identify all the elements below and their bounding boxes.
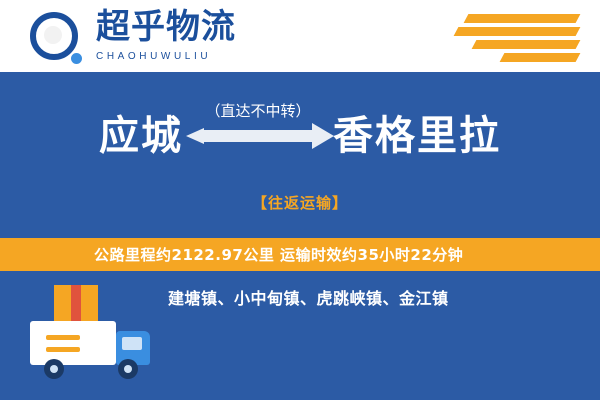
destination-panel: 建塘镇、小中甸镇、虎跳峡镇、金江镇 <box>0 271 600 400</box>
truck-wheel-front <box>118 359 138 379</box>
brand-text: 超乎物流 CHAOHUWULIU <box>96 8 296 62</box>
destination-city: 香格里拉 <box>333 112 501 160</box>
stripe-3 <box>472 40 581 49</box>
stripe-2 <box>454 27 581 36</box>
stripe-1 <box>464 14 581 23</box>
direct-shipping-badge: （直达不中转） <box>205 100 310 121</box>
truck-window-shape <box>122 337 142 350</box>
circle-logo-icon <box>30 12 84 66</box>
distance-duration-text: 公路里程约2122.97公里 运输时效约35小时22分钟 <box>94 244 463 265</box>
distance-info-bar: 公路里程约2122.97公里 运输时效约35小时22分钟 <box>0 238 600 271</box>
banner-header: 超乎物流 CHAOHUWULIU <box>0 0 600 72</box>
truck-wheel-rear <box>44 359 64 379</box>
origin-city: 应城 <box>99 112 183 160</box>
truck-parcel-tape-shape <box>71 285 81 321</box>
truck-stripe-1 <box>46 335 80 340</box>
stripe-4 <box>500 53 581 62</box>
logistics-banner: 超乎物流 CHAOHUWULIU 应城 （直达不中转） 香格里拉 【往返运输】 … <box>0 0 600 400</box>
route-row: 应城 （直达不中转） 香格里拉 <box>0 112 600 160</box>
truck-body-shape <box>30 321 116 365</box>
right-arrow-icon <box>202 130 314 142</box>
route-arrow-group: （直达不中转） <box>183 112 333 160</box>
destination-towns-text: 建塘镇、小中甸镇、虎跳峡镇、金江镇 <box>168 285 588 309</box>
round-trip-badge: 【往返运输】 <box>0 192 600 213</box>
decorative-stripes <box>438 14 578 60</box>
delivery-truck-icon <box>24 285 164 385</box>
truck-stripe-2 <box>46 347 80 352</box>
brand-name-cn: 超乎物流 <box>96 8 296 46</box>
brand-name-en: CHAOHUWULIU <box>96 51 296 62</box>
route-panel: 应城 （直达不中转） 香格里拉 【往返运输】 <box>0 72 600 238</box>
logo-dot-shape <box>69 51 84 66</box>
